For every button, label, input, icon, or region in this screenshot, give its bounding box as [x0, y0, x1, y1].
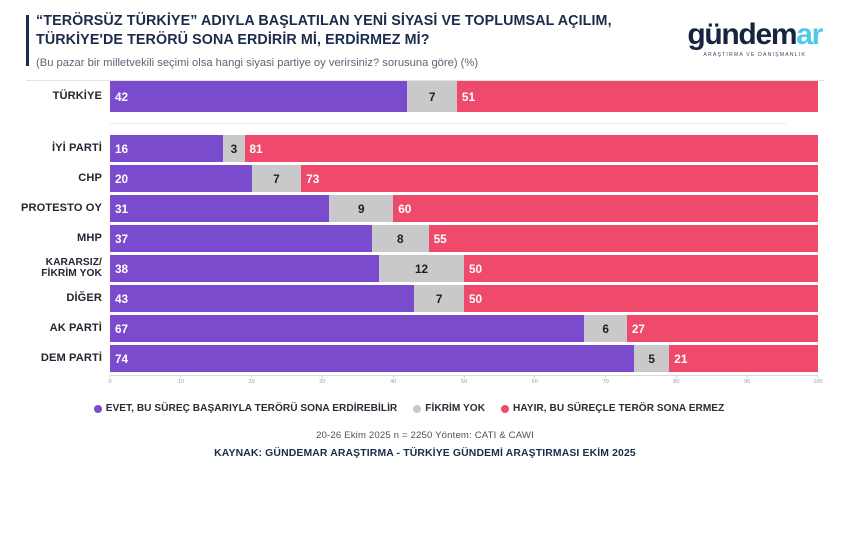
- gundemar-logo: gündemar ARAŞTIRMA VE DANIŞMANLIK: [687, 12, 828, 58]
- axis-tick-label: 30: [319, 379, 325, 385]
- row-label: TÜRKİYE: [0, 91, 110, 103]
- x-axis: 0102030405060708090100: [0, 375, 818, 391]
- axis-tick-mark: [393, 375, 394, 378]
- stacked-bar: 74521: [110, 345, 818, 372]
- row-label: PROTESTO OY: [0, 203, 110, 215]
- legend-color-dot-icon: [94, 405, 102, 413]
- legend-label: HAYIR, BU SÜREÇLE TERÖR SONA ERMEZ: [513, 403, 724, 414]
- axis-tick-mark: [605, 375, 606, 378]
- axis-tick: 100: [813, 375, 822, 385]
- axis-tick: 80: [673, 375, 679, 385]
- title-block: “TERÖRSÜZ TÜRKİYE” ADIYLA BAŞLATILAN YEN…: [26, 12, 612, 70]
- axis-tick-label: 40: [390, 379, 396, 385]
- stacked-bar: 381250: [110, 255, 818, 282]
- axis-tick-label: 70: [602, 379, 608, 385]
- axis-tick-mark: [747, 375, 748, 378]
- axis-tick-mark: [818, 375, 819, 378]
- stacked-bar: 37855: [110, 225, 818, 252]
- legend-color-dot-icon: [501, 405, 509, 413]
- bar-segment-yes: 16: [110, 135, 223, 162]
- chart-title-line-1: “TERÖRSÜZ TÜRKİYE” ADIYLA BAŞLATILAN YEN…: [36, 12, 612, 31]
- axis-tick: 20: [248, 375, 254, 385]
- row-group-gap: [0, 112, 818, 123]
- bar-segment-no-opinion: 8: [372, 225, 429, 252]
- bar-segment-no: 81: [245, 135, 818, 162]
- chart-row: CHP20773: [0, 165, 818, 192]
- axis-tick-label: 100: [813, 379, 822, 385]
- stacked-bar: 43750: [110, 285, 818, 312]
- chart-row: PROTESTO OY31960: [0, 195, 818, 222]
- bar-segment-yes: 67: [110, 315, 584, 342]
- axis-tick-label: 10: [178, 379, 184, 385]
- stacked-bar-chart: TÜRKİYE42751İYİ PARTİ16381CHP20773PROTES…: [0, 81, 850, 414]
- row-label: İYİ PARTİ: [0, 143, 110, 155]
- bar-segment-no: 50: [464, 285, 818, 312]
- bar-segment-no-opinion: 7: [414, 285, 464, 312]
- axis-spacer: [0, 375, 110, 391]
- row-label: CHP: [0, 173, 110, 185]
- axis-tick-mark: [251, 375, 252, 378]
- axis-tick: 10: [178, 375, 184, 385]
- bar-segment-yes: 38: [110, 255, 379, 282]
- stacked-bar: 42751: [110, 81, 818, 112]
- chart-row: KARARSIZ/FİKRİM YOK381250: [0, 255, 818, 282]
- chart-row: MHP37855: [0, 225, 818, 252]
- bar-segment-no: 51: [457, 81, 818, 112]
- legend-item[interactable]: FİKRİM YOK: [413, 403, 485, 414]
- axis-tick-mark: [534, 375, 535, 378]
- bar-segment-no: 73: [301, 165, 818, 192]
- bar-segment-no-opinion: 12: [379, 255, 464, 282]
- axis-tick: 60: [532, 375, 538, 385]
- axis-tick: 50: [461, 375, 467, 385]
- bar-segment-no: 60: [393, 195, 818, 222]
- logo-wordmark: gündemar: [687, 20, 822, 50]
- chart-row: TÜRKİYE42751: [0, 81, 818, 112]
- axis-tick: 70: [602, 375, 608, 385]
- bar-segment-yes: 42: [110, 81, 407, 112]
- row-label: MHP: [0, 233, 110, 245]
- stacked-bar: 67627: [110, 315, 818, 342]
- bar-segment-no-opinion: 7: [252, 165, 302, 192]
- row-group-gap: [0, 124, 818, 135]
- row-label: DEM PARTİ: [0, 353, 110, 365]
- axis-tick-label: 50: [461, 379, 467, 385]
- axis-tick: 90: [744, 375, 750, 385]
- chart-rows: TÜRKİYE42751İYİ PARTİ16381CHP20773PROTES…: [0, 81, 818, 372]
- row-label: AK PARTİ: [0, 323, 110, 335]
- bar-segment-yes: 31: [110, 195, 329, 222]
- logo-tagline: ARAŞTIRMA VE DANIŞMANLIK: [687, 52, 822, 58]
- survey-meta: 20-26 Ekim 2025 n = 2250 Yöntem: CATI & …: [0, 430, 850, 441]
- chart-title-line-2: TÜRKİYE'DE TERÖRÜ SONA ERDİRİR Mİ, ERDİR…: [36, 31, 612, 50]
- axis-tick: 0: [108, 375, 111, 385]
- bar-segment-no: 55: [429, 225, 818, 252]
- bar-segment-no-opinion: 7: [407, 81, 457, 112]
- axis-tick: 30: [319, 375, 325, 385]
- infographic-page: “TERÖRSÜZ TÜRKİYE” ADIYLA BAŞLATILAN YEN…: [0, 0, 850, 533]
- legend-label: EVET, BU SÜREÇ BAŞARIYLA TERÖRÜ SONA ERD…: [106, 403, 398, 414]
- bar-segment-yes: 37: [110, 225, 372, 252]
- stacked-bar: 20773: [110, 165, 818, 192]
- axis-tick-label: 80: [673, 379, 679, 385]
- bar-segment-no-opinion: 6: [584, 315, 626, 342]
- bar-segment-yes: 74: [110, 345, 634, 372]
- axis-tick-mark: [676, 375, 677, 378]
- chart-row: AK PARTİ67627: [0, 315, 818, 342]
- stacked-bar: 31960: [110, 195, 818, 222]
- axis-tick-mark: [463, 375, 464, 378]
- legend-item[interactable]: EVET, BU SÜREÇ BAŞARIYLA TERÖRÜ SONA ERD…: [94, 403, 398, 414]
- header: “TERÖRSÜZ TÜRKİYE” ADIYLA BAŞLATILAN YEN…: [0, 0, 850, 76]
- bar-segment-no: 50: [464, 255, 818, 282]
- bar-segment-yes: 20: [110, 165, 252, 192]
- bar-segment-yes: 43: [110, 285, 414, 312]
- row-label: KARARSIZ/FİKRİM YOK: [0, 258, 110, 279]
- row-label: DİĞER: [0, 293, 110, 305]
- chart-row: DİĞER43750: [0, 285, 818, 312]
- bar-segment-no: 27: [627, 315, 818, 342]
- logo-text-accent: ar: [796, 18, 822, 51]
- logo-text-dark: gündem: [687, 18, 796, 51]
- axis-tick-label: 20: [248, 379, 254, 385]
- chart-subtitle: (Bu pazar bir milletvekili seçimi olsa h…: [36, 56, 612, 71]
- bar-segment-no: 21: [669, 345, 818, 372]
- row-label-second-line: FİKRİM YOK: [41, 268, 102, 279]
- chart-row: DEM PARTİ74521: [0, 345, 818, 372]
- legend-label: FİKRİM YOK: [425, 403, 485, 414]
- survey-source: KAYNAK: GÜNDEMAR ARAŞTIRMA - TÜRKİYE GÜN…: [0, 448, 850, 459]
- legend-item[interactable]: HAYIR, BU SÜREÇLE TERÖR SONA ERMEZ: [501, 403, 724, 414]
- chart-legend: EVET, BU SÜREÇ BAŞARIYLA TERÖRÜ SONA ERD…: [0, 403, 818, 414]
- axis-tick-mark: [322, 375, 323, 378]
- axis-tick-label: 60: [532, 379, 538, 385]
- axis-tick-label: 0: [108, 379, 111, 385]
- bar-segment-no-opinion: 3: [223, 135, 244, 162]
- footer: 20-26 Ekim 2025 n = 2250 Yöntem: CATI & …: [0, 430, 850, 459]
- axis-tick-mark: [180, 375, 181, 378]
- axis-tick-mark: [110, 375, 111, 378]
- axis-tick: 40: [390, 375, 396, 385]
- axis-track: 0102030405060708090100: [110, 375, 818, 391]
- bar-segment-no-opinion: 5: [634, 345, 669, 372]
- legend-color-dot-icon: [413, 405, 421, 413]
- bar-segment-no-opinion: 9: [329, 195, 393, 222]
- chart-row: İYİ PARTİ16381: [0, 135, 818, 162]
- axis-tick-label: 90: [744, 379, 750, 385]
- stacked-bar: 16381: [110, 135, 818, 162]
